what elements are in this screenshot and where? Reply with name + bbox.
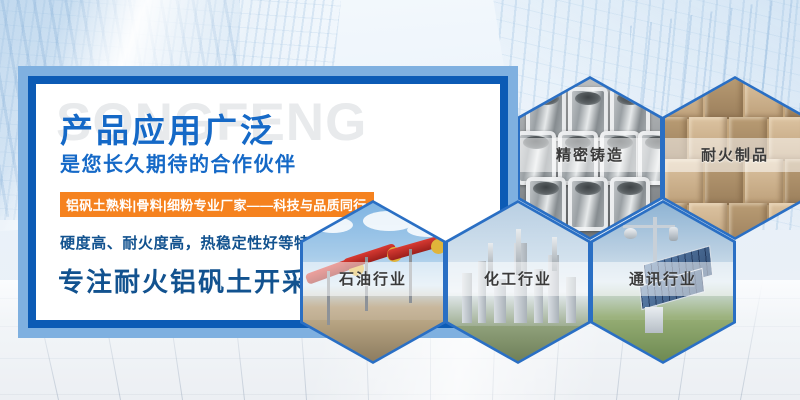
hex-label-refractory-products: 耐火制品 (665, 138, 800, 172)
hex-label-communications-industry: 通讯行业 (593, 262, 733, 296)
hex-label-petroleum-industry: 石油行业 (303, 262, 443, 296)
hex-label-chemical-industry: 化工行业 (448, 262, 588, 296)
banner-stage: 炼铝工业 精密铸造 耐火制品 SONGFENG 产品应用广泛 是您长久期待的合作… (0, 0, 800, 400)
tagline-text: 铝矾土熟料|骨料|细粉专业厂家——科技与品质同行 (66, 195, 366, 214)
tagline-banner: 铝矾土熟料|骨料|细粉专业厂家——科技与品质同行 (60, 192, 374, 217)
page-title: 产品应用广泛 (60, 104, 276, 152)
subtitle: 是您长久期待的合作伙伴 (60, 148, 297, 177)
feature-text: 硬度高、耐火度高，热稳定性好等特性 (60, 232, 325, 253)
hex-label-precision-casting: 精密铸造 (520, 138, 660, 172)
